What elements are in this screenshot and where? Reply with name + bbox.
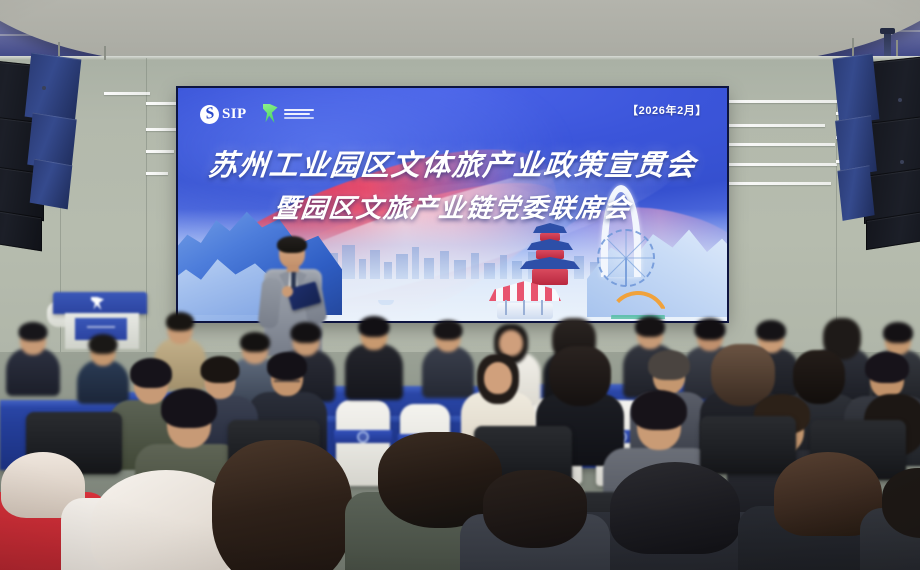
ferris-wheel-illustration xyxy=(597,229,655,287)
sip-logo-text: SIP xyxy=(222,106,247,123)
sip-mark-icon xyxy=(200,105,219,124)
led-backdrop-screen: SIP 【2026年2月】 苏州工业园区文体旅产业政策宣贯会 暨园区文旅产业链党… xyxy=(178,88,727,321)
line-array-speaker-left xyxy=(0,44,150,229)
pagoda-illustration xyxy=(513,223,587,285)
date-badge: 【2026年2月】 xyxy=(627,102,707,118)
carousel-illustration xyxy=(489,281,561,321)
suzhou-mark-icon xyxy=(261,104,281,124)
lectern-logo-icon xyxy=(91,297,104,310)
audience-member xyxy=(350,316,398,394)
audience-member xyxy=(480,470,590,570)
audience-member xyxy=(10,322,56,392)
event-title: 苏州工业园区文体旅产业政策宣贯会 xyxy=(178,142,727,184)
sip-logo: SIP xyxy=(200,105,247,124)
wall-slat xyxy=(146,128,176,131)
conference-hall-screenshot: SIP 【2026年2月】 苏州工业园区文体旅产业政策宣贯会 暨园区文旅产业链党… xyxy=(0,0,920,570)
event-subtitle: 暨园区文旅产业链党委联席会 xyxy=(178,188,727,225)
audience-member xyxy=(880,468,920,570)
audience-member xyxy=(222,440,342,570)
line-array-speaker-right xyxy=(800,42,920,232)
suzhou-logo-wordmark xyxy=(284,109,314,119)
suzhou-culture-tourism-logo xyxy=(261,104,314,124)
audience-member xyxy=(600,462,750,570)
led-logo-row: SIP xyxy=(200,104,314,124)
boat-illustration xyxy=(378,300,394,305)
audience-member xyxy=(426,320,470,392)
wall-slat xyxy=(146,150,174,153)
